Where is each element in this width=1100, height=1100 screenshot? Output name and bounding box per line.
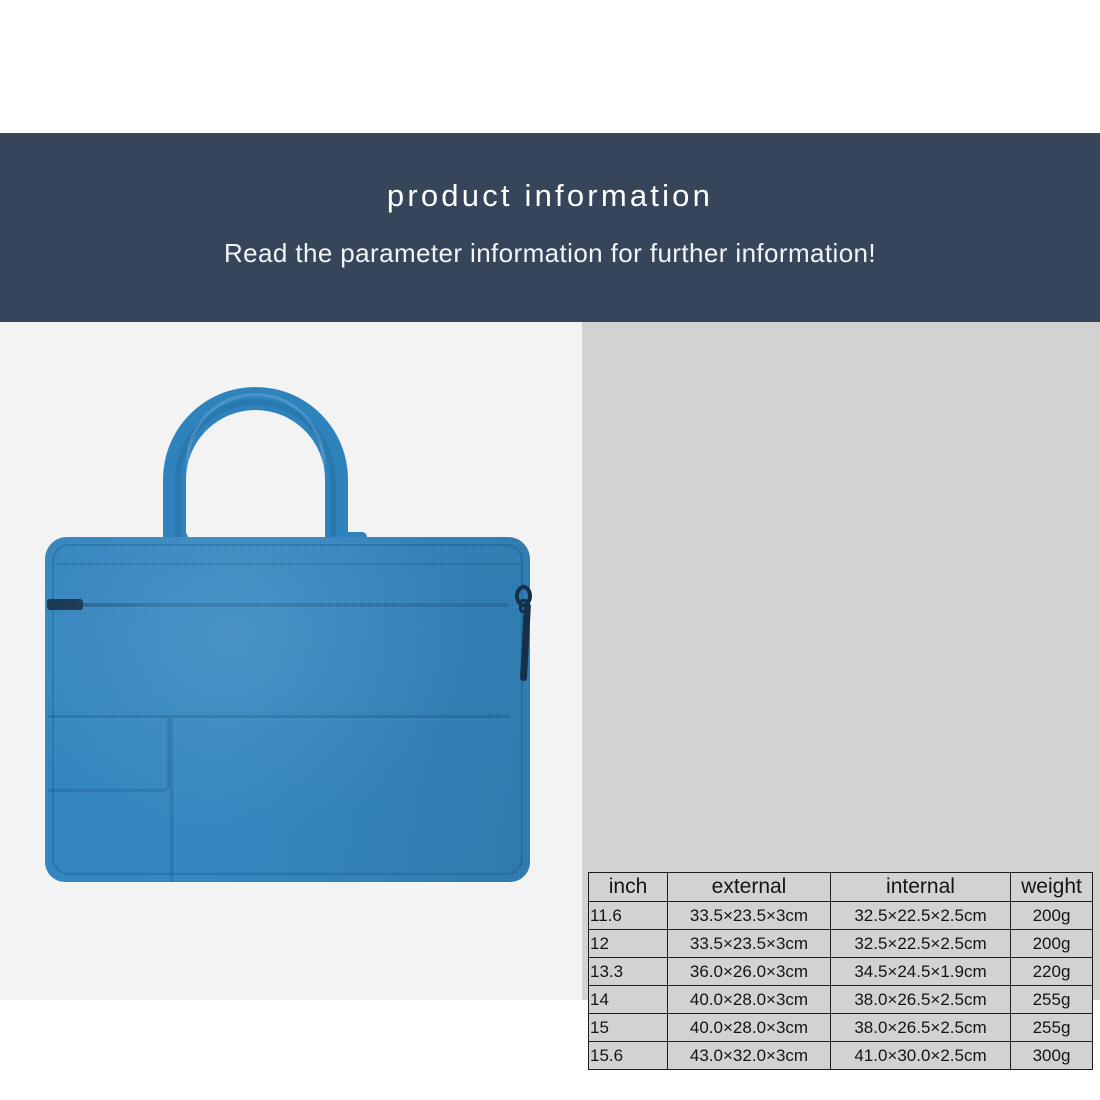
- zipper-tab: [520, 603, 531, 681]
- cell-external: 40.0×28.0×3cm: [668, 986, 831, 1014]
- table-row: 13.3 36.0×26.0×3cm 34.5×24.5×1.9cm 220g: [589, 958, 1093, 986]
- bag-zipper-pull-icon: [511, 585, 541, 681]
- table-row: 15 40.0×28.0×3cm 38.0×26.5×2.5cm 255g: [589, 1014, 1093, 1042]
- cell-internal: 34.5×24.5×1.9cm: [831, 958, 1011, 986]
- bag-lower-pocket-left: [48, 718, 170, 792]
- specification-table: inch external internal weight 11.6 33.5×…: [588, 872, 1093, 1070]
- bag-body-rim: [52, 544, 523, 875]
- cell-inch: 12: [589, 930, 668, 958]
- bag-lower-pocket-divider: [170, 718, 173, 882]
- spec-table-container: inch external internal weight 11.6 33.5×…: [588, 872, 1092, 1070]
- cell-weight: 255g: [1011, 986, 1093, 1014]
- cell-internal: 38.0×26.5×2.5cm: [831, 1014, 1011, 1042]
- content-area: inch external internal weight 11.6 33.5×…: [0, 322, 1100, 1000]
- cell-weight: 220g: [1011, 958, 1093, 986]
- cell-weight: 255g: [1011, 1014, 1093, 1042]
- bag-front-zipper-line: [49, 603, 509, 607]
- page-subtitle: Read the parameter information for furth…: [224, 238, 876, 269]
- cell-weight: 300g: [1011, 1042, 1093, 1070]
- table-row: 15.6 43.0×32.0×3cm 41.0×30.0×2.5cm 300g: [589, 1042, 1093, 1070]
- cell-inch: 15: [589, 1014, 668, 1042]
- product-image-panel: [0, 322, 582, 1000]
- bag-zipper-slider-icon: [47, 599, 83, 610]
- laptop-bag-illustration: [45, 387, 530, 882]
- cell-external: 43.0×32.0×3cm: [668, 1042, 831, 1070]
- cell-weight: 200g: [1011, 902, 1093, 930]
- cell-internal: 38.0×26.5×2.5cm: [831, 986, 1011, 1014]
- page-title: product information: [387, 179, 713, 213]
- cell-external: 33.5×23.5×3cm: [668, 930, 831, 958]
- cell-inch: 14: [589, 986, 668, 1014]
- cell-external: 33.5×23.5×3cm: [668, 902, 831, 930]
- column-header-weight: weight: [1011, 873, 1093, 902]
- column-header-internal: internal: [831, 873, 1011, 902]
- cell-inch: 13.3: [589, 958, 668, 986]
- header-band: product information Read the parameter i…: [0, 133, 1100, 322]
- cell-inch: 11.6: [589, 902, 668, 930]
- product-photo: [0, 322, 582, 1000]
- table-row: 14 40.0×28.0×3cm 38.0×26.5×2.5cm 255g: [589, 986, 1093, 1014]
- bag-top-seam: [55, 563, 520, 565]
- table-row: 12 33.5×23.5×3cm 32.5×22.5×2.5cm 200g: [589, 930, 1093, 958]
- column-header-inch: inch: [589, 873, 668, 902]
- cell-weight: 200g: [1011, 930, 1093, 958]
- table-row: 11.6 33.5×23.5×3cm 32.5×22.5×2.5cm 200g: [589, 902, 1093, 930]
- cell-internal: 41.0×30.0×2.5cm: [831, 1042, 1011, 1070]
- cell-external: 36.0×26.0×3cm: [668, 958, 831, 986]
- table-header-row: inch external internal weight: [589, 873, 1093, 902]
- cell-internal: 32.5×22.5×2.5cm: [831, 902, 1011, 930]
- cell-inch: 15.6: [589, 1042, 668, 1070]
- cell-internal: 32.5×22.5×2.5cm: [831, 930, 1011, 958]
- bag-body: [45, 537, 530, 882]
- column-header-external: external: [668, 873, 831, 902]
- cell-external: 40.0×28.0×3cm: [668, 1014, 831, 1042]
- product-information-page: product information Read the parameter i…: [0, 0, 1100, 1100]
